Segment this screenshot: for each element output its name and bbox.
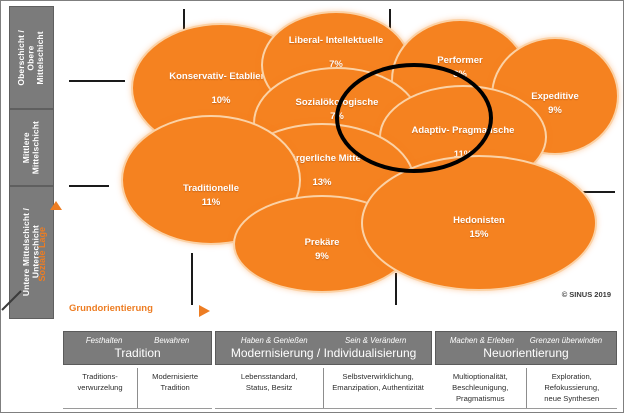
sub-label: Bewahren [154, 336, 189, 345]
bubble-label: Liberal- Intellektuelle [263, 35, 409, 46]
sub-label: Sein & Verändern [345, 336, 406, 345]
grundorientierung-table: Festhalten Bewahren Tradition Haben & Ge… [63, 331, 617, 409]
copyright-label: © SINUS 2019 [562, 290, 611, 299]
bubble-hedonisten[interactable]: Hedonisten 15% [361, 155, 597, 291]
header-title: Modernisierung / Individualisierung [216, 346, 431, 360]
table-cell-tradition: Traditions- verwurzelung Modernisierte T… [63, 368, 212, 409]
table-cell-modernisierung: Lebensstandard, Status, Besitz Selbstver… [215, 368, 432, 409]
cell-text: Multioptionalität, Beschleunigung, Pragm… [435, 368, 526, 408]
sub-label: Grenzen überwinden [530, 336, 602, 345]
table-header-modernisierung[interactable]: Haben & Genießen Sein & Verändern Modern… [215, 331, 432, 365]
bubble-label: Traditionelle [123, 183, 299, 194]
sub-label: Festhalten [86, 336, 122, 345]
table-cell-neuorientierung: Multioptionalität, Beschleunigung, Pragm… [435, 368, 617, 409]
cell-text: Selbstverwirklichung, Emanzipation, Auth… [323, 368, 432, 408]
sinus-milieus-chart: Oberschicht / Obere Mittelschicht Mittle… [0, 0, 624, 413]
strata-upper-class: Oberschicht / Obere Mittelschicht [9, 6, 54, 109]
cell-text: Traditions- verwurzelung [63, 368, 137, 408]
table-header-row: Festhalten Bewahren Tradition Haben & Ge… [63, 331, 617, 365]
table-header-tradition[interactable]: Festhalten Bewahren Tradition [63, 331, 212, 365]
sub-label: Machen & Erleben [450, 336, 514, 345]
bubble-value: 15% [363, 229, 595, 240]
axis-corner-icon [1, 289, 23, 311]
strata-label: Mittlere Mittelschicht [22, 121, 41, 174]
soziale-lage-axis: Soziale Lage [48, 201, 62, 311]
milieu-plot-area: SINUS Konservativ- Etablierte 10% Libera… [61, 5, 621, 315]
bubble-label: Hedonisten [363, 215, 595, 226]
table-header-neuorientierung[interactable]: Machen & Erleben Grenzen überwinden Neuo… [435, 331, 617, 365]
highlight-ellipse-annotation [335, 63, 493, 173]
header-title: Neuorientierung [436, 346, 616, 360]
cell-text: Exploration, Refokussierung, neue Synthe… [526, 368, 618, 408]
strata-label: Oberschicht / Obere Mittelschicht [17, 30, 46, 86]
table-body-row: Traditions- verwurzelung Modernisierte T… [63, 368, 617, 409]
header-title: Tradition [64, 346, 211, 360]
strata-middle-class: Mittlere Mittelschicht [9, 109, 54, 186]
sub-label: Haben & Genießen [241, 336, 308, 345]
cell-text: Modernisierte Tradition [137, 368, 212, 408]
cell-text: Lebensstandard, Status, Besitz [215, 368, 323, 408]
